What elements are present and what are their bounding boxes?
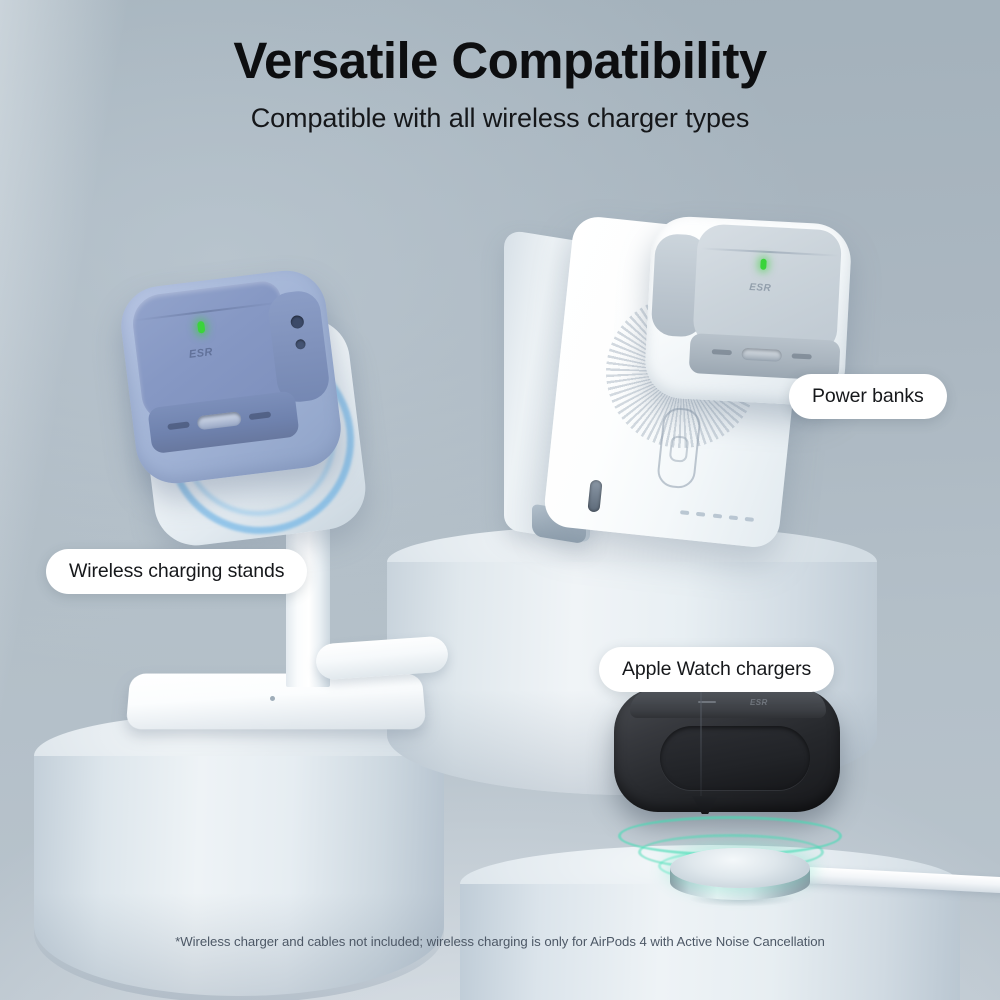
battery-led	[712, 514, 721, 518]
battery-led	[680, 510, 689, 514]
product-marketing-image: ESR ESR	[0, 0, 1000, 1000]
charger-cable	[798, 866, 1000, 893]
callout-label: Apple Watch chargers	[622, 658, 811, 681]
stand-base-indicator	[270, 696, 275, 701]
callout-power-banks: Power banks	[789, 374, 947, 419]
white-case-speaker-right	[792, 353, 812, 359]
wireless-charging-stand: ESR	[120, 262, 460, 742]
callout-label: Power banks	[812, 385, 924, 408]
white-case-speaker-left	[712, 349, 732, 355]
usb-c-port-icon	[741, 348, 782, 362]
stand-base	[126, 674, 427, 730]
battery-led	[745, 517, 754, 521]
status-led-green	[760, 259, 767, 270]
black-case-oval-inset	[660, 726, 810, 790]
callout-wireless-charging-stands: Wireless charging stands	[46, 549, 307, 594]
power-bank-logo-inner	[669, 435, 690, 463]
esr-logo: ESR	[749, 282, 772, 294]
stand-arm	[315, 635, 449, 680]
black-case-seam	[700, 690, 702, 812]
page-title: Versatile Compatibility	[0, 34, 1000, 88]
apple-watch-charger-puck	[670, 848, 810, 908]
callout-label: Wireless charging stands	[69, 560, 284, 583]
page-subtitle: Compatible with all wireless charger typ…	[0, 103, 1000, 134]
battery-led	[696, 512, 705, 516]
callout-apple-watch-chargers: Apple Watch chargers	[599, 647, 834, 692]
status-led-green	[197, 321, 205, 334]
power-bank: ESR	[498, 216, 818, 546]
puck-charging-surface	[670, 848, 810, 888]
black-case-top-face	[630, 690, 826, 718]
podium-left	[34, 713, 444, 1000]
footnote-disclaimer: *Wireless charger and cables not include…	[0, 934, 1000, 949]
esr-logo: ESR	[750, 698, 768, 707]
apple-watch-charger-scene: ESR	[600, 688, 930, 908]
airpods-case-black: ESR	[614, 688, 840, 818]
battery-led	[729, 516, 738, 520]
airpods-case-blue: ESR	[117, 266, 346, 488]
